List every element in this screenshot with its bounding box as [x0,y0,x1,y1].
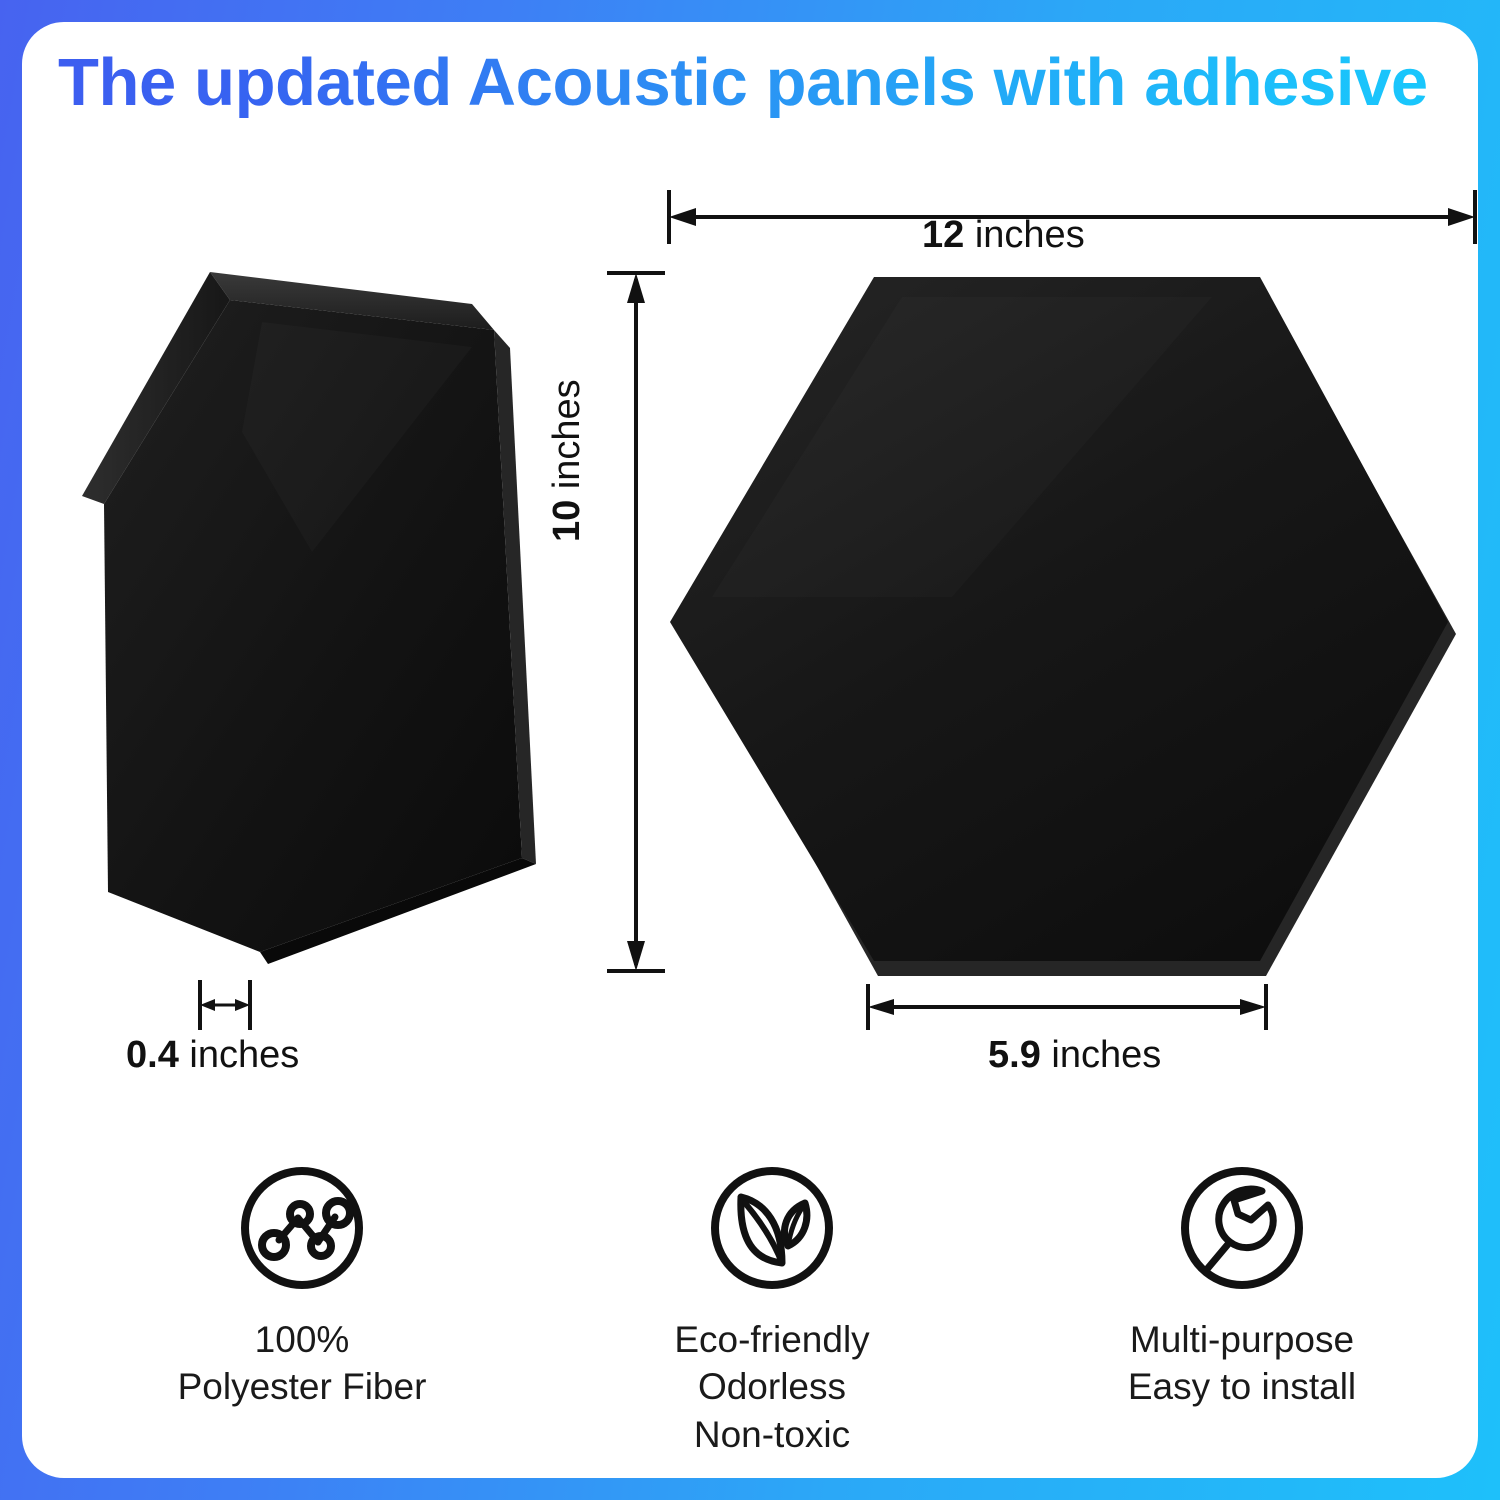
feature-item-polyester: 100% Polyester Fiber [82,1162,522,1458]
feature-label-polyester: 100% Polyester Fiber [178,1316,427,1411]
dimension-line-height [607,267,667,977]
dimension-label-thickness: 0.4 inches [126,1034,299,1077]
feature-line: Non-toxic [674,1411,869,1458]
dimension-unit-height: inches [546,379,588,489]
dimension-value-side: 5.9 [988,1034,1041,1076]
dimension-line-side [862,984,1272,1032]
dimension-label-height: 10 inches [546,379,589,542]
dimension-unit-side: inches [1051,1034,1161,1076]
product-image-front-view [652,267,1482,977]
feature-line: Odorless [674,1363,869,1410]
feature-line: Easy to install [1128,1363,1356,1410]
feature-label-multipurpose: Multi-purpose Easy to install [1128,1316,1356,1411]
dimension-value-thickness: 0.4 [126,1034,179,1076]
dimension-unit-thickness: inches [189,1034,299,1076]
feature-item-multipurpose: Multi-purpose Easy to install [1022,1162,1462,1458]
dimension-label-width: 12 inches [922,214,1085,257]
dimension-label-side: 5.9 inches [988,1034,1161,1077]
dimension-value-width: 12 [922,214,964,256]
feature-item-eco: Eco-friendly Odorless Non-toxic [552,1162,992,1458]
feature-line: Polyester Fiber [178,1363,427,1410]
dimension-value-height: 10 [546,500,588,542]
leaf-icon [706,1162,838,1294]
wrench-icon [1176,1162,1308,1294]
dimension-unit-width: inches [975,214,1085,256]
feature-line: Multi-purpose [1128,1316,1356,1363]
content-card: The updated Acoustic panels with adhesiv… [22,22,1478,1478]
dimension-line-thickness [182,980,292,1032]
molecule-icon [236,1162,368,1294]
feature-row: 100% Polyester Fiber Ec [82,1162,1462,1458]
feature-line: Eco-friendly [674,1316,869,1363]
feature-line: 100% [178,1316,427,1363]
product-image-angled-view [62,252,572,992]
feature-label-eco: Eco-friendly Odorless Non-toxic [674,1316,869,1458]
product-infographic: The updated Acoustic panels with adhesiv… [0,0,1500,1500]
page-title: The updated Acoustic panels with adhesiv… [58,48,1458,118]
